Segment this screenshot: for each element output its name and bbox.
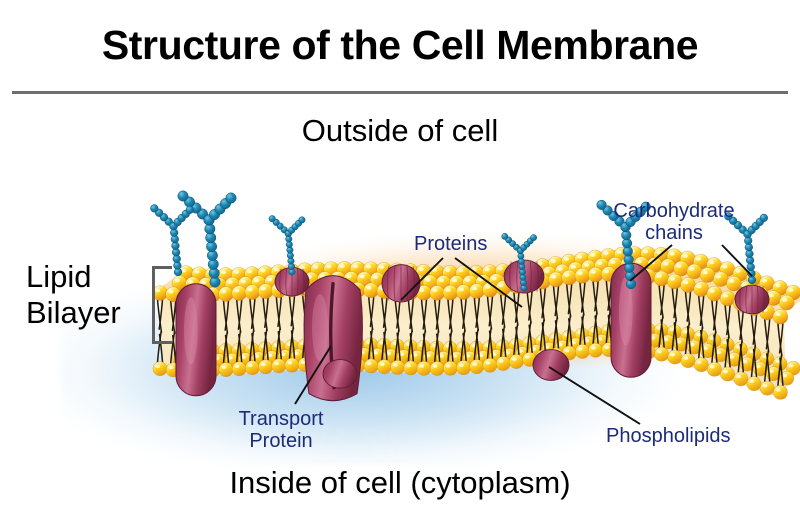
label-carbohydrate-line1: Carbohydrate <box>598 200 750 222</box>
label-transport-protein: Transport Protein <box>222 408 340 452</box>
label-lipid-bilayer-line1: Lipid <box>26 259 166 295</box>
integral-protein-left <box>176 284 216 396</box>
diagram-canvas: Structure of the Cell Membrane <box>0 0 800 529</box>
label-transport-line1: Transport <box>222 408 340 430</box>
label-proteins: Proteins <box>414 233 487 255</box>
peripheral-protein-upper <box>382 265 420 302</box>
label-lipid-bilayer-line2: Bilayer <box>26 295 166 331</box>
lipid-bilayer-bracket <box>152 266 172 344</box>
label-inside-cell: Inside of cell (cytoplasm) <box>0 465 800 501</box>
label-lipid-bilayer: Lipid Bilayer <box>26 259 166 331</box>
label-transport-line2: Protein <box>222 430 340 452</box>
label-outside-cell: Outside of cell <box>0 113 800 149</box>
label-carbohydrate-line2: chains <box>598 222 750 244</box>
peripheral-protein-lower <box>323 360 357 389</box>
glycoprotein-right <box>735 285 769 314</box>
label-carbohydrate-chains: Carbohydrate chains <box>598 200 750 244</box>
label-phospholipids: Phospholipids <box>606 425 731 447</box>
